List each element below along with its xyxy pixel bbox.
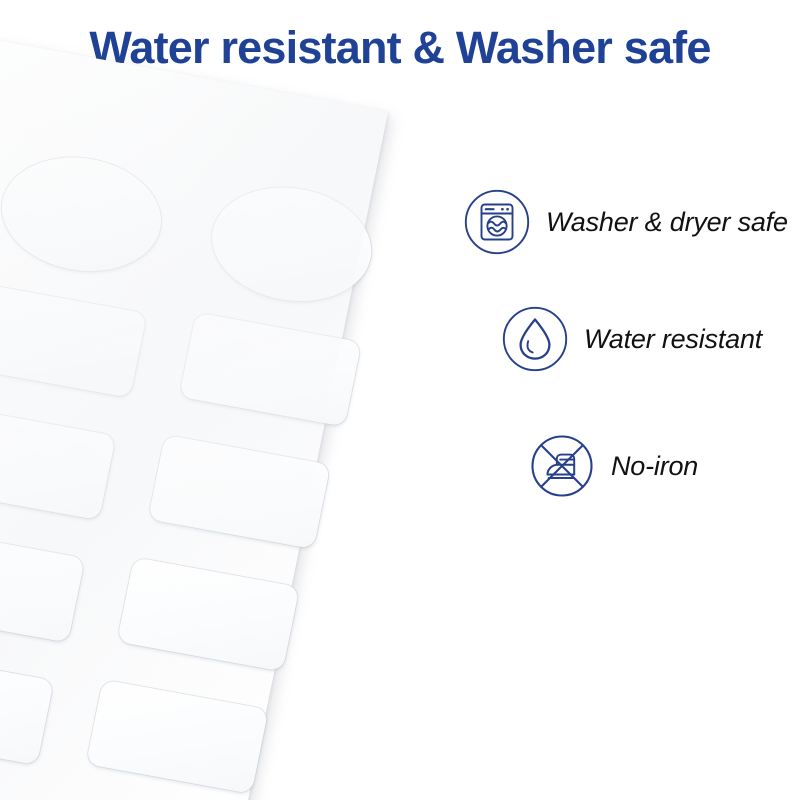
feature-row-water-resistant: Water resistant [502, 306, 762, 372]
label-rect [148, 435, 330, 549]
label-oval [202, 175, 382, 313]
label-rect [117, 557, 299, 671]
feature-row-washer-dryer-safe: Washer & dryer safe [464, 189, 788, 255]
product-feature-banner: Water resistant & Washer safe [0, 0, 800, 800]
label-grid [0, 4, 388, 800]
label-oval [0, 145, 171, 283]
label-rect [179, 312, 361, 426]
feature-row-no-iron: No-iron [529, 433, 698, 499]
label-rect [0, 651, 54, 765]
label-sheet-photo [0, 90, 430, 800]
feature-label: No-iron [611, 451, 698, 482]
label-rect [0, 284, 147, 398]
feature-label: Washer & dryer safe [546, 207, 788, 238]
water-droplet-icon [502, 306, 568, 372]
label-rect [0, 406, 116, 520]
washing-machine-icon [464, 189, 530, 255]
feature-label: Water resistant [584, 324, 762, 355]
label-rect [86, 680, 268, 794]
label-rect [0, 528, 85, 642]
no-iron-icon [529, 433, 595, 499]
label-sheet [0, 4, 388, 800]
